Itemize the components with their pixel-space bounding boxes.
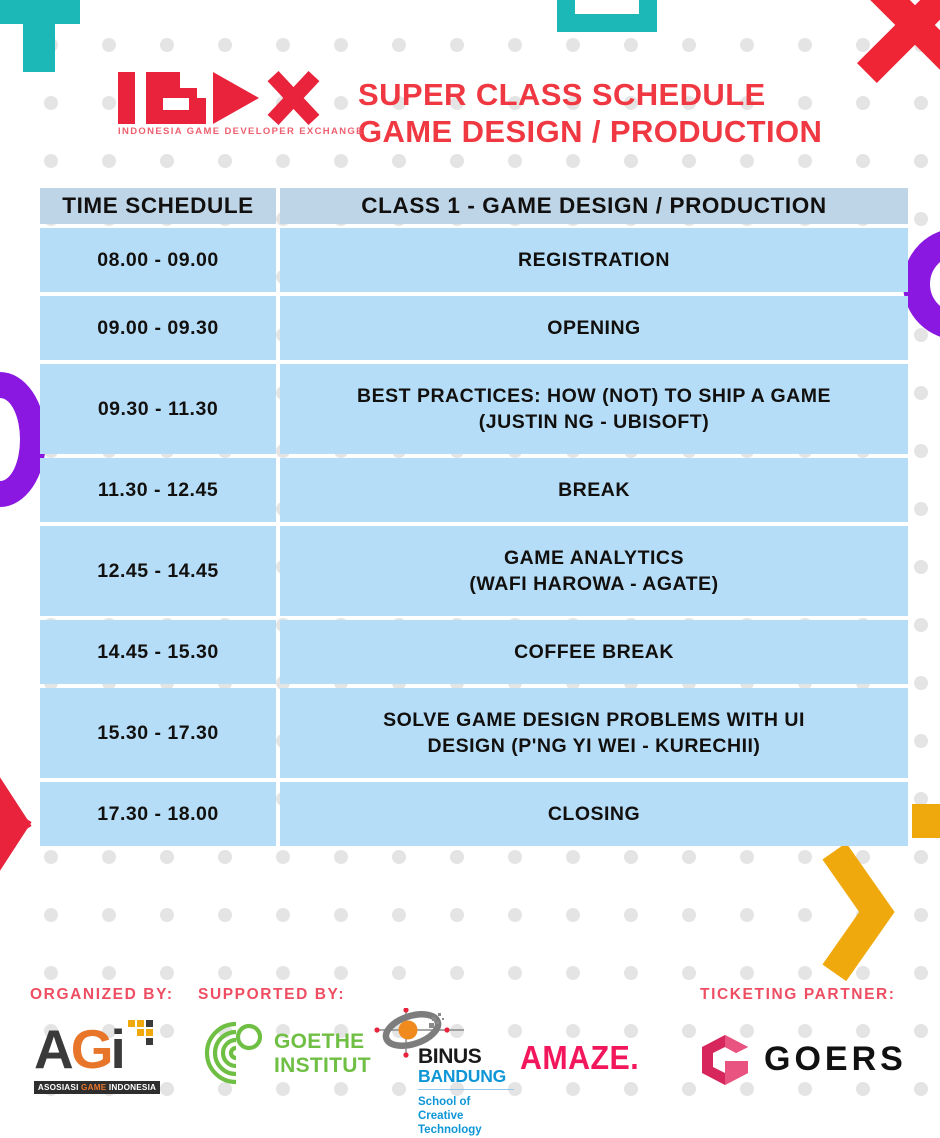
table-header-row: TIME SCHEDULE CLASS 1 - GAME DESIGN / PR… — [40, 188, 908, 224]
logo-letter-x-icon — [262, 72, 322, 124]
binus-name: BINUS — [418, 1046, 481, 1068]
goers-logo: GOERS — [700, 1032, 900, 1088]
column-header-class: CLASS 1 - GAME DESIGN / PRODUCTION — [280, 188, 908, 224]
chevron-left-yellow-shape-icon — [830, 842, 940, 974]
goers-cube-icon — [700, 1034, 750, 1086]
table-row: 14.45 - 15.30 COFFEE BREAK — [40, 620, 908, 684]
cell-time: 17.30 - 18.00 — [40, 782, 276, 846]
poster-footer: ORGANIZED BY: SUPPORTED BY: TICKETING PA… — [0, 960, 940, 1138]
logo-play-triangle-icon — [213, 72, 259, 124]
igdx-logo-mark — [118, 72, 344, 124]
session-title: BEST PRACTICES: HOW (NOT) TO SHIP A GAME — [357, 383, 831, 409]
goethe-wordmark: GOETHE INSTITUT — [274, 1030, 371, 1078]
binus-logo: BINUS BANDUNG School of Creative Technol… — [372, 1008, 522, 1126]
session-title: GAME ANALYTICS — [469, 545, 718, 571]
logo-letter-i-icon — [118, 72, 135, 124]
amaze-logo: AMAZE. — [520, 1040, 639, 1076]
agi-sub-asosiasi: ASOSIASI — [38, 1083, 81, 1092]
cell-session: OPENING — [280, 296, 908, 360]
agi-letter-g: G — [71, 1018, 111, 1080]
poster-title-line-1: SUPER CLASS SCHEDULE — [358, 76, 822, 113]
agi-pixels-icon — [128, 1020, 158, 1046]
agi-logo: AGi ASOSIASI GAME INDONESIA — [34, 1018, 160, 1106]
session-speaker: DESIGN (P'NG YI WEI - KURECHII) — [383, 733, 805, 759]
cell-time: 12.45 - 14.45 — [40, 526, 276, 616]
square-shape-icon — [912, 804, 940, 838]
cell-session: GAME ANALYTICS (WAFI HAROWA - AGATE) — [280, 526, 908, 616]
goethe-line-1: GOETHE — [274, 1030, 371, 1054]
schedule-table: TIME SCHEDULE CLASS 1 - GAME DESIGN / PR… — [40, 188, 908, 846]
session-title: SOLVE GAME DESIGN PROBLEMS WITH UI — [383, 707, 805, 733]
caption-organized-by: ORGANIZED BY: — [30, 986, 174, 1004]
cell-time: 08.00 - 09.00 — [40, 228, 276, 292]
session-title: OPENING — [547, 317, 640, 339]
session-title: COFFEE BREAK — [514, 641, 674, 663]
cell-time: 15.30 - 17.30 — [40, 688, 276, 778]
cell-time: 09.30 - 11.30 — [40, 364, 276, 454]
session-title: CLOSING — [548, 803, 640, 825]
session-speaker: (JUSTIN NG - UBISOFT) — [357, 409, 831, 435]
poster-title-group: SUPER CLASS SCHEDULE GAME DESIGN / PRODU… — [358, 72, 822, 150]
binus-divider — [418, 1089, 514, 1090]
square-outline-shape-icon — [557, 0, 657, 32]
poster-title-line-2: GAME DESIGN / PRODUCTION — [358, 113, 822, 150]
poster-header: INDONESIA GAME DEVELOPER EXCHANGE SUPER … — [0, 72, 940, 168]
cell-session: REGISTRATION — [280, 228, 908, 292]
logo-letter-g-icon — [146, 72, 206, 124]
cell-time: 14.45 - 15.30 — [40, 620, 276, 684]
table-row: 11.30 - 12.45 BREAK — [40, 458, 908, 522]
agi-sub-indonesia: INDONESIA — [109, 1083, 156, 1092]
igdx-logo: INDONESIA GAME DEVELOPER EXCHANGE — [118, 72, 344, 137]
table-row: 09.30 - 11.30 BEST PRACTICES: HOW (NOT) … — [40, 364, 908, 454]
goethe-rings-icon — [196, 1018, 266, 1088]
session-speaker: (WAFI HAROWA - AGATE) — [469, 571, 718, 597]
cell-session: CLOSING — [280, 782, 908, 846]
session-title: BREAK — [558, 479, 630, 501]
binus-school-line-1: School of — [418, 1095, 522, 1109]
column-header-time: TIME SCHEDULE — [40, 188, 276, 224]
table-row: 09.00 - 09.30 OPENING — [40, 296, 908, 360]
binus-school-line-2: Creative Technology — [418, 1109, 522, 1137]
table-row: 15.30 - 17.30 SOLVE GAME DESIGN PROBLEMS… — [40, 688, 908, 778]
table-row: 17.30 - 18.00 CLOSING — [40, 782, 908, 846]
agi-subtitle: ASOSIASI GAME INDONESIA — [34, 1081, 160, 1094]
cell-session: BREAK — [280, 458, 908, 522]
cell-session: BEST PRACTICES: HOW (NOT) TO SHIP A GAME… — [280, 364, 908, 454]
agi-sub-game: GAME — [81, 1083, 109, 1092]
ring-shape-icon — [903, 228, 940, 340]
cell-session: COFFEE BREAK — [280, 620, 908, 684]
plus-shape-icon — [0, 0, 80, 72]
agi-letter-i: i — [111, 1018, 123, 1080]
binus-city: BANDUNG — [418, 1067, 506, 1086]
goethe-institut-logo: GOETHE INSTITUT — [196, 1018, 368, 1096]
cell-time: 09.00 - 09.30 — [40, 296, 276, 360]
binus-school: School of Creative Technology — [418, 1095, 522, 1137]
cell-session: SOLVE GAME DESIGN PROBLEMS WITH UI DESIG… — [280, 688, 908, 778]
table-row: 12.45 - 14.45 GAME ANALYTICS (WAFI HAROW… — [40, 526, 908, 616]
session-title: REGISTRATION — [518, 249, 670, 271]
cell-time: 11.30 - 12.45 — [40, 458, 276, 522]
igdx-tagline: INDONESIA GAME DEVELOPER EXCHANGE — [118, 126, 344, 137]
caption-supported-by: SUPPORTED BY: — [198, 986, 345, 1004]
goethe-line-2: INSTITUT — [274, 1054, 371, 1078]
table-row: 08.00 - 09.00 REGISTRATION — [40, 228, 908, 292]
goers-wordmark: GOERS — [764, 1038, 907, 1080]
agi-letter-a: A — [34, 1018, 71, 1080]
caption-ticketing-partner: TICKETING PARTNER: — [700, 986, 896, 1004]
